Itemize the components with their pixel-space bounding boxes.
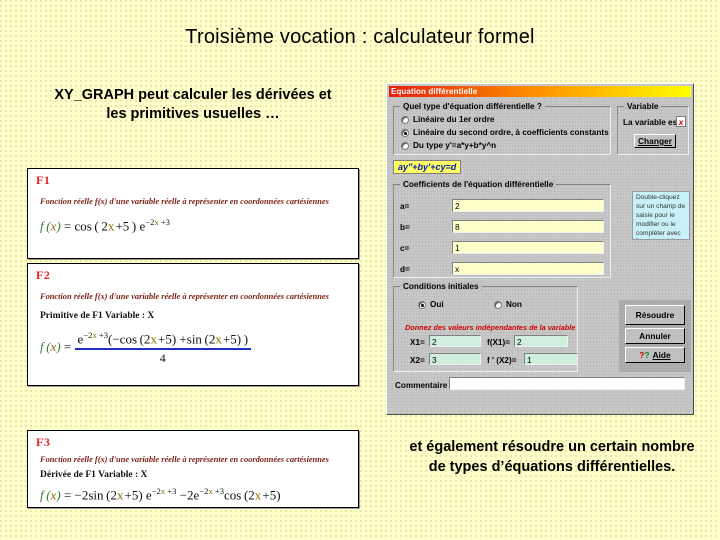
fprime-x2-input[interactable]: 1: [524, 353, 578, 365]
left-caption-text: XY_GRAPH peut calculer les dérivées et l…: [48, 86, 338, 125]
radio-label-bernoulli: Du type y'=a*y+b*y^n: [413, 141, 496, 150]
radio-label-second-order: Linéaire du second ordre, à coefficients…: [413, 128, 609, 137]
variable-legend: Variable: [624, 102, 661, 111]
radio-label-non: Non: [506, 300, 522, 309]
aide-button[interactable]: ?? Aide: [625, 347, 685, 363]
x1-input[interactable]: 2: [429, 335, 481, 347]
commentaire-label: Commentaire: [395, 381, 447, 390]
equation-form-label: ay''+by'+cy=d: [393, 160, 461, 174]
variable-group: Variable La variable est : x Changer: [617, 106, 689, 155]
coefficient-input-b[interactable]: 8: [452, 220, 604, 233]
coefficient-input-c[interactable]: 1: [452, 241, 604, 254]
initial-conditions-warning: Donnez des valeurs indépendantes de la v…: [405, 323, 575, 332]
function-subtitle-f2: Primitive de F1 Variable : X: [40, 311, 154, 321]
page-title: Troisième vocation : calculateur formel: [0, 26, 720, 49]
coefficient-label-d: d=: [400, 265, 410, 274]
coefficient-input-a[interactable]: 2: [452, 199, 604, 212]
function-panel-f2: F2 Fonction réelle f(x) d'une variable r…: [27, 263, 359, 386]
coefficient-label-a: a=: [400, 202, 409, 211]
radio-label-oui: Oui: [430, 300, 444, 309]
syntax-hint-box: Double-cliquez sur un champ de saisie po…: [632, 191, 690, 240]
fprime-x2-label: f ' (X2)=: [487, 356, 516, 365]
radio-circle-icon: [494, 301, 502, 309]
x1-label: X1=: [410, 338, 425, 347]
dialog-titlebar[interactable]: Equation différentielle: [389, 86, 691, 97]
function-tag-f3: F3: [36, 435, 50, 450]
coefficient-label-b: b=: [400, 223, 410, 232]
fx1-label: f(X1)=: [487, 338, 510, 347]
annuler-button[interactable]: Annuler: [625, 328, 685, 344]
coefficients-group: Coefficients de l'équation différentiell…: [393, 184, 611, 278]
radio-linear-first-order[interactable]: Linéaire du 1er ordre: [401, 115, 494, 124]
radio-label-first-order: Linéaire du 1er ordre: [413, 115, 494, 124]
radio-conditions-non[interactable]: Non: [494, 300, 522, 309]
function-subtitle-f3: Dérivée de F1 Variable : X: [40, 470, 147, 480]
equation-type-legend: Quel type d'équation différentielle ?: [400, 102, 545, 111]
dialog-title-text: Equation différentielle: [391, 87, 477, 96]
annuler-button-label: Annuler: [639, 331, 671, 341]
radio-circle-icon: [401, 116, 409, 124]
initial-conditions-legend: Conditions initiales: [400, 282, 482, 291]
radio-linear-second-order[interactable]: Linéaire du second ordre, à coefficients…: [401, 128, 609, 137]
question-marks-icon: ??: [639, 350, 649, 360]
equation-differentielle-dialog: Equation différentielle Quel type d'équa…: [386, 83, 694, 415]
function-description-f1: Fonction réelle f(x) d'une variable réel…: [40, 197, 329, 206]
fx1-input[interactable]: 2: [514, 335, 568, 347]
commentaire-input[interactable]: [449, 377, 685, 390]
resoudre-button-label: Résoudre: [636, 310, 675, 320]
radio-circle-icon: [401, 142, 409, 150]
radio-bernoulli-type[interactable]: Du type y'=a*y+b*y^n: [401, 141, 496, 150]
changer-button-label: Changer: [638, 136, 672, 146]
radio-circle-selected-icon: [401, 129, 409, 137]
function-panel-f3: F3 Fonction réelle f(x) d'une variable r…: [27, 430, 359, 508]
coefficients-legend: Coefficients de l'équation différentiell…: [400, 180, 556, 189]
function-formula-f1: f (x) = cos ( 2x +5 ) e−2x +3: [40, 217, 170, 234]
resoudre-button[interactable]: Résoudre: [625, 305, 685, 325]
equation-type-group: Quel type d'équation différentielle ? Li…: [393, 106, 611, 155]
aide-button-label: Aide: [653, 350, 671, 360]
changer-button[interactable]: Changer: [634, 134, 676, 148]
right-caption-text: et également résoudre un certain nombre …: [404, 438, 700, 477]
variable-value-box[interactable]: x: [676, 116, 686, 127]
radio-conditions-oui[interactable]: Oui: [418, 300, 444, 309]
function-tag-f1: F1: [36, 173, 50, 188]
function-formula-f2: f (x) = e−2x +3(−cos (2x +5) +sin (2x +5…: [40, 330, 251, 366]
function-formula-f3: f (x) = −2sin (2x +5) e−2x +3 −2e−2x +3c…: [40, 486, 281, 503]
action-buttons-panel: Résoudre Annuler ?? Aide: [619, 300, 691, 372]
function-panel-f1: F1 Fonction réelle f(x) d'une variable r…: [27, 168, 359, 259]
coefficient-input-d[interactable]: x: [452, 262, 604, 275]
coefficient-label-c: c=: [400, 244, 409, 253]
function-description-f2: Fonction réelle f(x) d'une variable réel…: [40, 292, 329, 301]
function-description-f3: Fonction réelle f(x) d'une variable réel…: [40, 455, 329, 464]
x2-input[interactable]: 3: [429, 353, 481, 365]
radio-circle-selected-icon: [418, 301, 426, 309]
function-tag-f2: F2: [36, 268, 50, 283]
x2-label: X2=: [410, 356, 425, 365]
